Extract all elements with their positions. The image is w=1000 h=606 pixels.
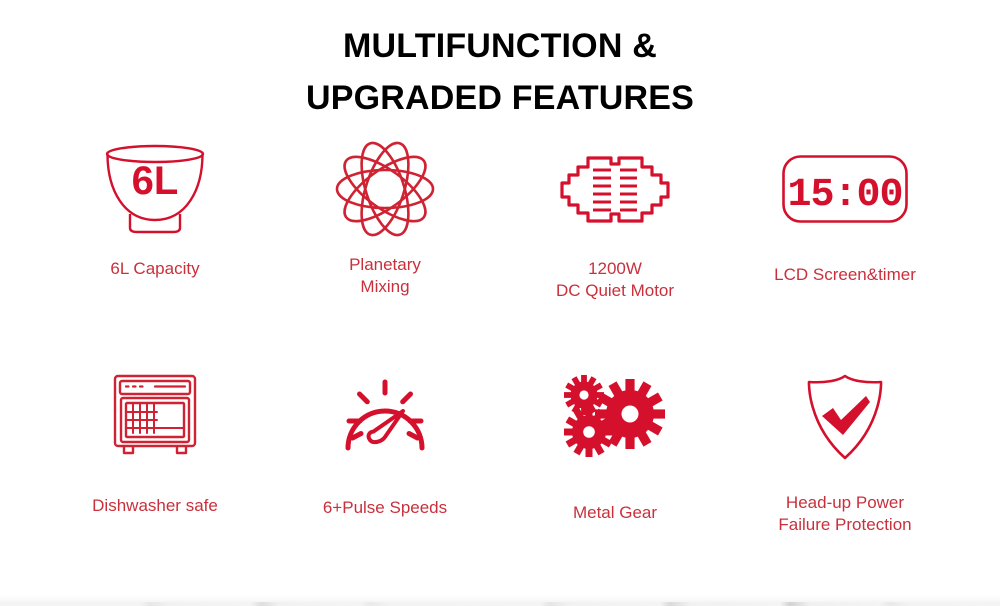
feature-label-dishwasher-safe: Dishwasher safe — [92, 495, 218, 517]
gears-icon — [562, 362, 668, 472]
feature-item-metal-gear: Metal Gear — [500, 362, 730, 552]
page-title-line-1: MULTIFUNCTION & — [0, 20, 1000, 72]
feature-grid: 6L 6L Capacity Planetary Mixing — [40, 134, 960, 552]
feature-label-metal-gear: Metal Gear — [573, 502, 657, 524]
speedometer-icon — [340, 362, 430, 472]
feature-item-lcd-timer: 15:00 LCD Screen&timer — [730, 134, 960, 362]
feature-item-speeds: 6+Pulse Speeds — [270, 362, 500, 552]
page-title: MULTIFUNCTION & UPGRADED FEATURES — [0, 20, 1000, 124]
feature-item-planetary-mixing: Planetary Mixing — [270, 134, 500, 362]
motor-icon — [557, 134, 673, 244]
shield-check-icon — [802, 362, 888, 472]
feature-item-dishwasher-safe: Dishwasher safe — [40, 362, 270, 552]
feature-label-planetary-mixing: Planetary Mixing — [349, 254, 421, 298]
feature-label-power-failure-protection: Head-up Power Failure Protection — [778, 492, 911, 536]
page-title-line-2: UPGRADED FEATURES — [0, 72, 1000, 124]
atom-orbit-icon — [334, 134, 436, 244]
bowl-icon: 6L — [96, 134, 214, 242]
feature-item-power-failure-protection: Head-up Power Failure Protection — [730, 362, 960, 552]
feature-item-capacity: 6L 6L Capacity — [40, 134, 270, 362]
feature-label-lcd-timer: LCD Screen&timer — [774, 264, 916, 286]
dishwasher-icon — [109, 362, 201, 467]
feature-highlights-page: MULTIFUNCTION & UPGRADED FEATURES 6L 6L … — [0, 0, 1000, 606]
feature-item-motor: 1200W DC Quiet Motor — [500, 134, 730, 362]
feature-label-motor: 1200W DC Quiet Motor — [556, 258, 674, 302]
feature-label-capacity: 6L Capacity — [110, 258, 199, 280]
bowl-capacity-text: 6L — [132, 159, 179, 203]
lcd-display-icon: 15:00 — [781, 134, 909, 244]
feature-label-speeds: 6+Pulse Speeds — [323, 497, 447, 519]
lcd-time-text: 15:00 — [787, 173, 902, 218]
page-bottom-edge — [0, 595, 1000, 606]
